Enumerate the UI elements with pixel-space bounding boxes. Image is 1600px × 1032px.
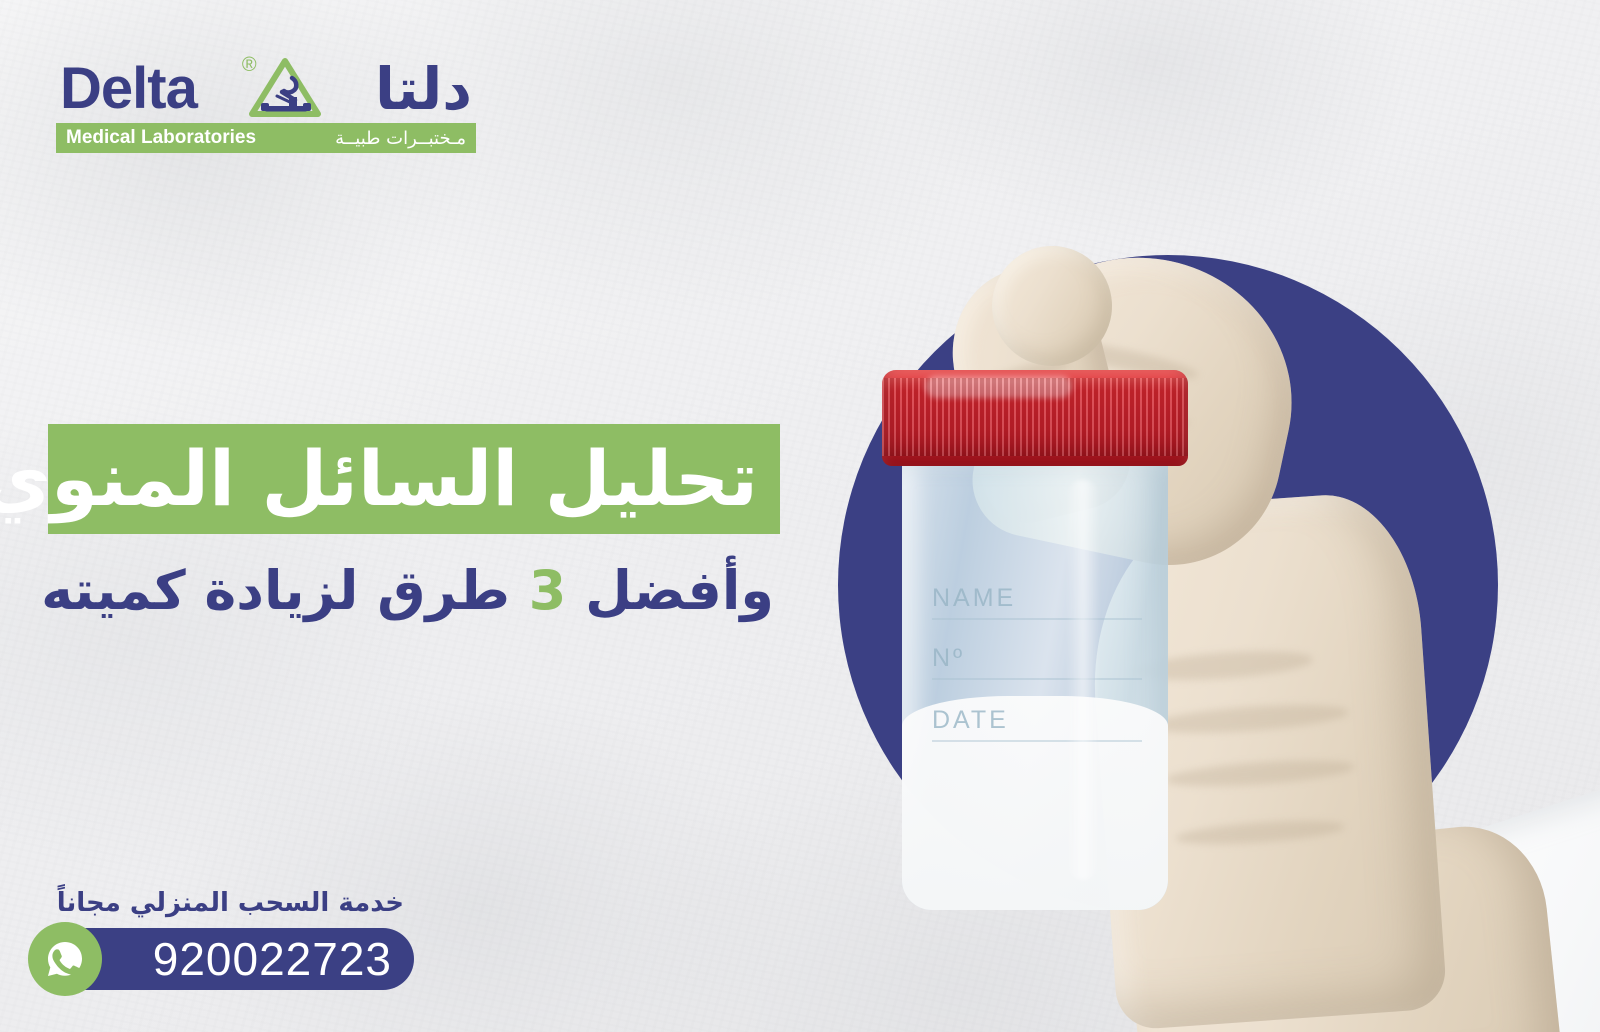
- microscope-in-triangle-icon: ®: [248, 56, 322, 118]
- registered-mark: ®: [242, 54, 257, 77]
- headline-sub-text: وأفضل 3 طرق لزيادة كميته: [48, 552, 780, 630]
- cup-highlight: [1066, 480, 1100, 880]
- headline-sub-number: 3: [529, 559, 567, 622]
- hero-photo: NAME Nº DATE: [740, 200, 1600, 1032]
- specimen-cup-body: NAME Nº DATE: [902, 458, 1168, 910]
- logo-tagline-en: Medical Laboratories: [66, 127, 256, 149]
- cup-label-number: Nº: [932, 644, 965, 673]
- logo-tagline-ar: مـختبــرات طبيــة: [335, 128, 466, 149]
- phone-number[interactable]: 920022723: [153, 932, 392, 986]
- specimen-cup-cap: [882, 370, 1188, 466]
- contact-block: خدمة السحب المنزلي مجاناً 920022723: [28, 886, 458, 990]
- cup-label-name: NAME: [932, 584, 1016, 613]
- phone-cta-button[interactable]: 920022723: [56, 928, 414, 990]
- headline-highlight-bar: تحليل السائل المنوي: [48, 424, 780, 534]
- brand-logo: Delta ® دلتا Medical Laboratories مـختبـ…: [56, 52, 476, 153]
- headline-sub-prefix: وأفضل: [566, 559, 774, 622]
- specimen-cup: NAME Nº DATE: [880, 370, 1190, 930]
- logo-name-ar: دلتا: [375, 60, 472, 118]
- logo-name-en: Delta: [60, 60, 197, 118]
- headline-sub-suffix: طرق لزيادة كميته: [41, 559, 529, 622]
- headline-main-text: تحليل السائل المنوي: [0, 437, 758, 521]
- poster-canvas: NAME Nº DATE Delta ®: [0, 0, 1600, 1032]
- cup-label-date: DATE: [932, 706, 1009, 735]
- logo-tagline-bar: Medical Laboratories مـختبــرات طبيــة: [56, 123, 476, 153]
- whatsapp-icon[interactable]: [28, 922, 102, 996]
- home-service-tagline: خدمة السحب المنزلي مجاناً: [28, 886, 458, 920]
- logo-wordmark-row: Delta ® دلتا: [56, 52, 476, 118]
